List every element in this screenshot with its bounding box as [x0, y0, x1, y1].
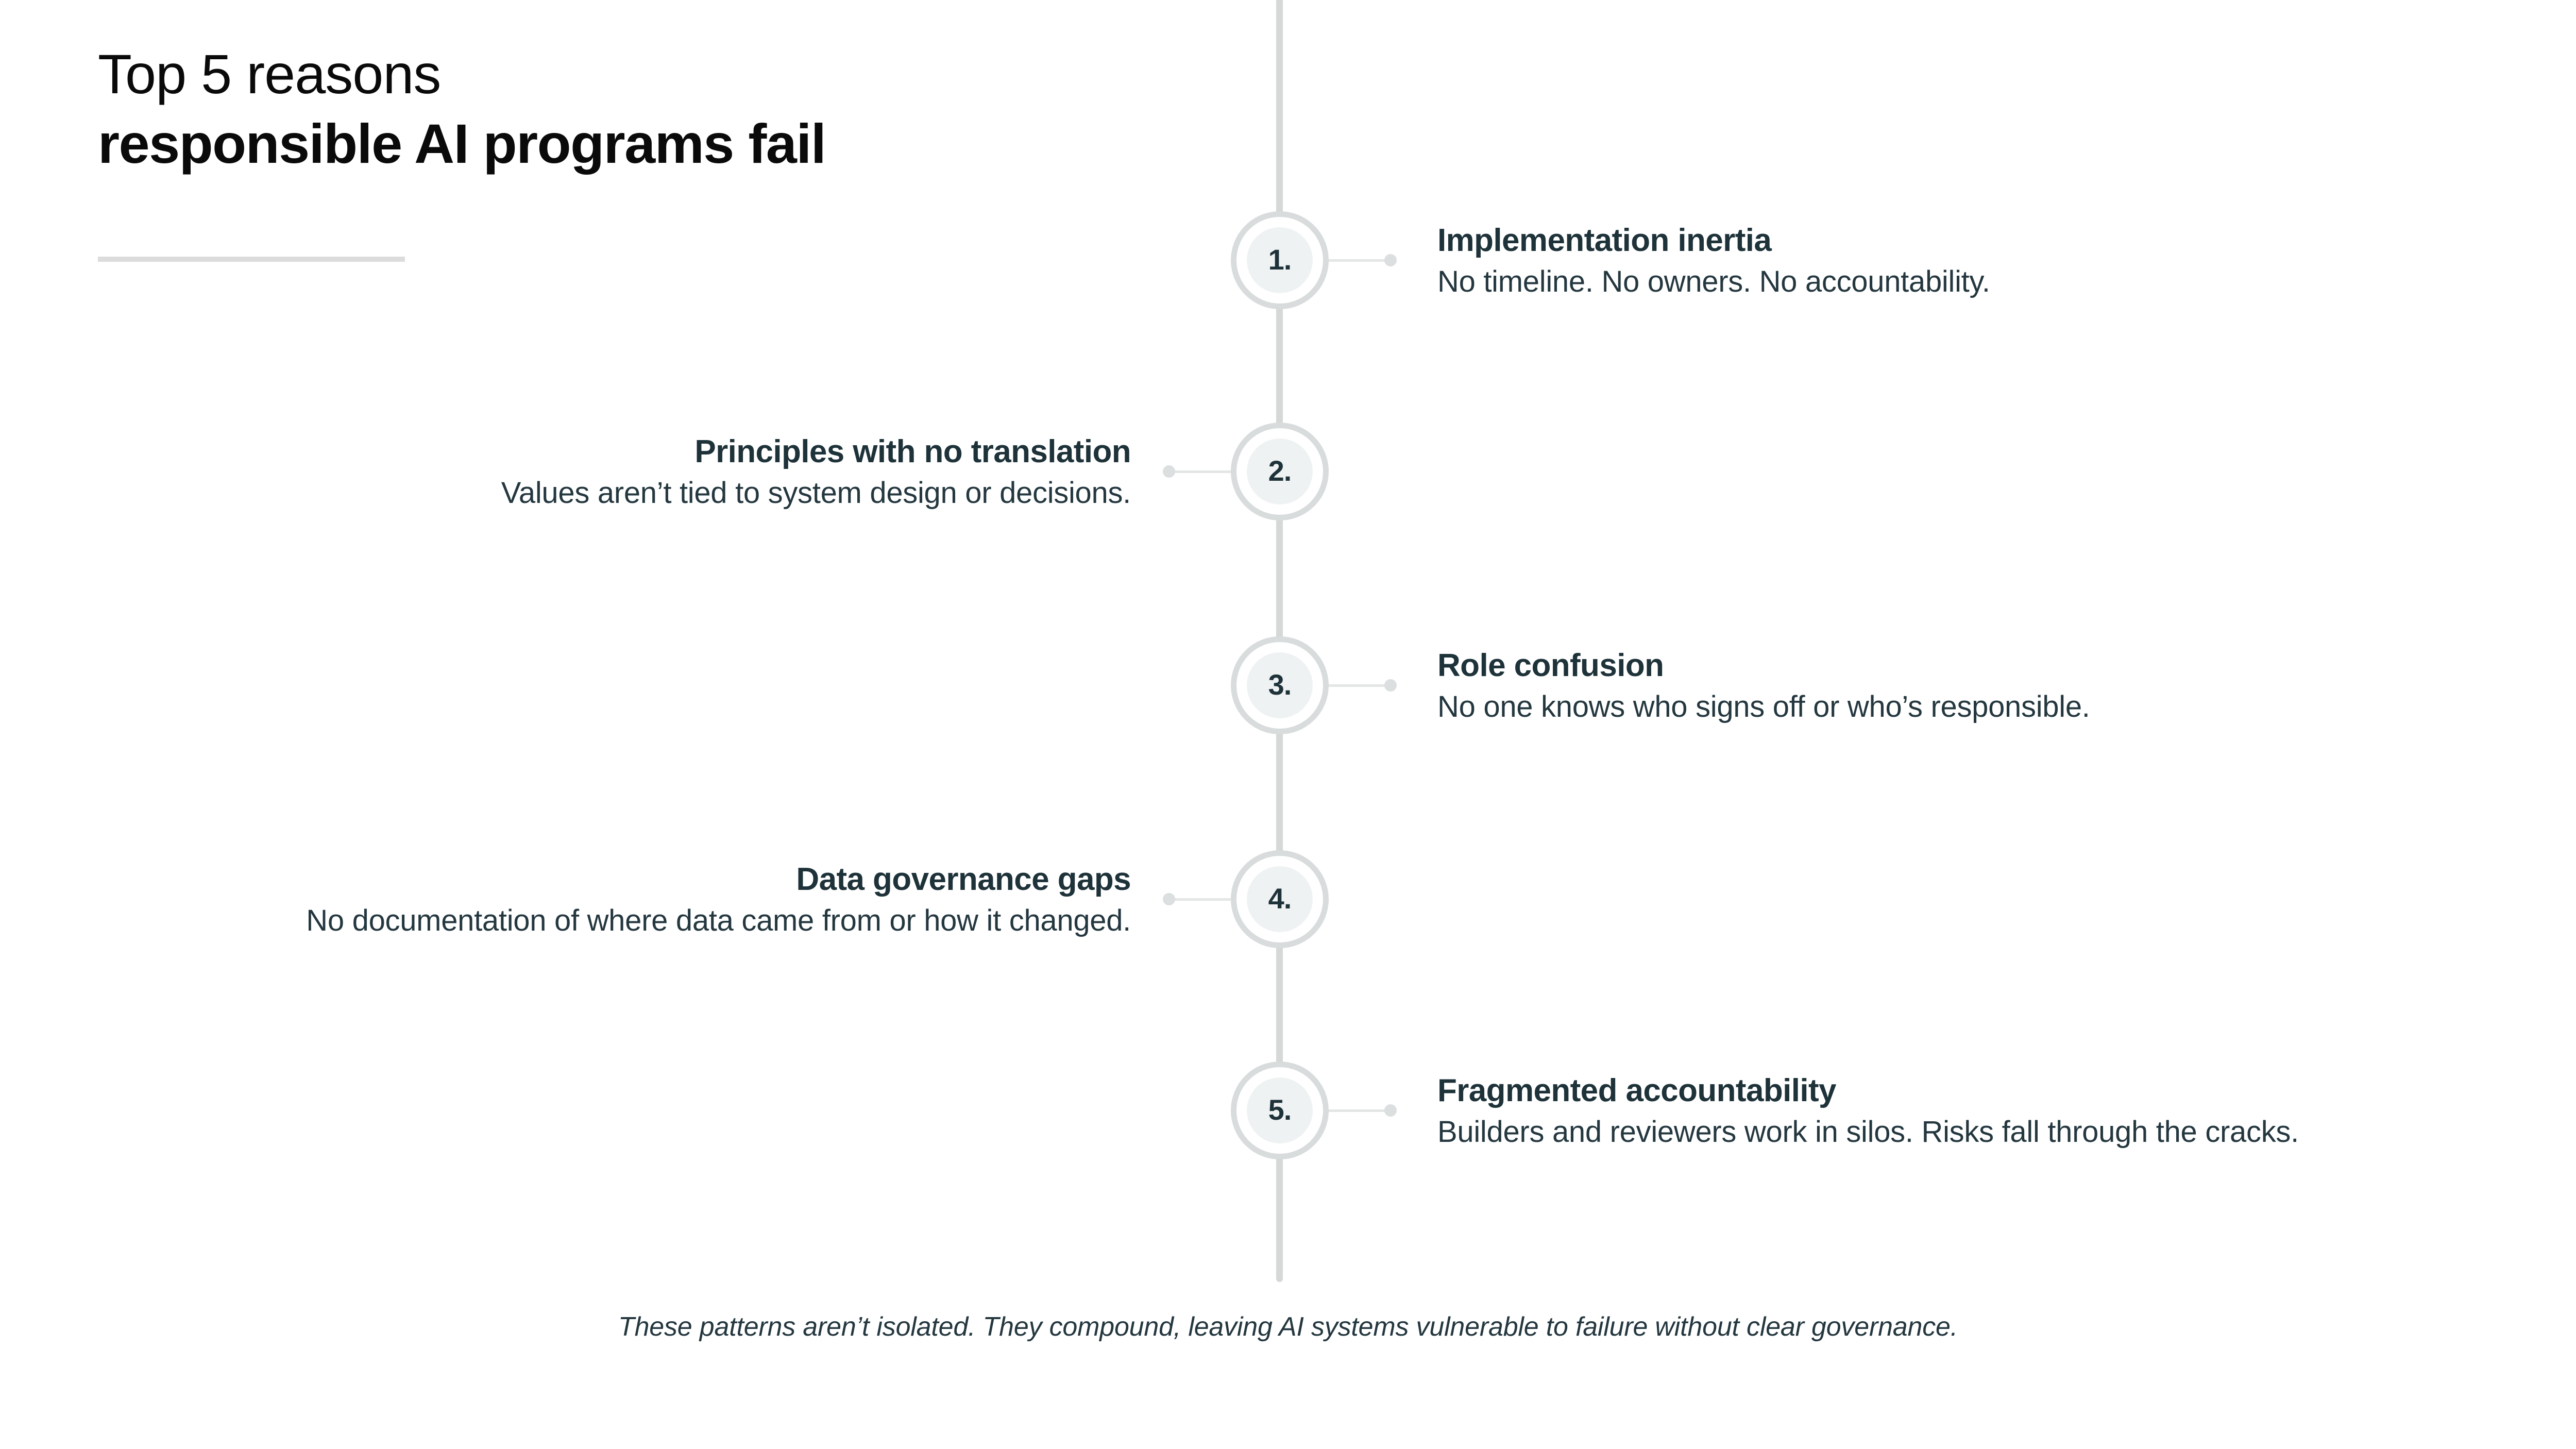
connector-dot — [1384, 679, 1397, 692]
timeline-item-1-text: Implementation inertiaNo timeline. No ow… — [1437, 222, 2416, 301]
title-line-primary: Top 5 reasons — [98, 41, 1128, 107]
timeline-item-2-text: Principles with no translationValues are… — [155, 433, 1131, 513]
timeline-node-5[interactable]: 5. — [1231, 1062, 1329, 1159]
timeline-item-description: Builders and reviewers work in silos. Ri… — [1437, 1113, 2416, 1151]
timeline-node-4[interactable]: 4. — [1231, 850, 1329, 948]
timeline-item-description: No timeline. No owners. No accountabilit… — [1437, 262, 2416, 301]
timeline-item-description: Values aren’t tied to system design or d… — [155, 474, 1131, 512]
footer-caption: These patterns aren’t isolated. They com… — [0, 1310, 2576, 1345]
connector-line — [1329, 259, 1391, 262]
connector-line — [1329, 1109, 1391, 1112]
timeline-item-heading: Implementation inertia — [1437, 222, 2416, 259]
timeline-node-2[interactable]: 2. — [1231, 423, 1329, 520]
timeline-node-inner: 2. — [1247, 439, 1313, 504]
timeline-item-4-text: Data governance gapsNo documentation of … — [155, 861, 1131, 940]
timeline-node-number: 1. — [1268, 245, 1292, 274]
timeline-node-inner: 3. — [1247, 652, 1313, 718]
connector-dot — [1163, 893, 1175, 905]
timeline-item-description: No documentation of where data came from… — [155, 901, 1131, 940]
title-line-secondary: responsible AI programs fail — [98, 111, 1128, 176]
timeline-item-5-text: Fragmented accountabilityBuilders and re… — [1437, 1072, 2416, 1152]
timeline-item-heading: Data governance gaps — [155, 861, 1131, 898]
connector-line — [1329, 684, 1391, 687]
timeline-node-number: 5. — [1268, 1096, 1292, 1124]
connector-line — [1169, 898, 1231, 901]
timeline-node-inner: 5. — [1247, 1077, 1313, 1143]
timeline-node-inner: 1. — [1247, 227, 1313, 293]
title-divider-rule — [98, 257, 405, 262]
timeline-item-3-text: Role confusionNo one knows who signs off… — [1437, 647, 2416, 727]
timeline-node-1[interactable]: 1. — [1231, 211, 1329, 309]
timeline-item-heading: Principles with no translation — [155, 433, 1131, 470]
page-title: Top 5 reasons responsible AI programs fa… — [98, 41, 1128, 177]
connector-line — [1169, 470, 1231, 473]
connector-dot — [1163, 465, 1175, 478]
timeline-node-number: 4. — [1268, 884, 1292, 913]
timeline-node-3[interactable]: 3. — [1231, 636, 1329, 734]
connector-dot — [1384, 254, 1397, 266]
connector-dot — [1384, 1104, 1397, 1117]
timeline-item-description: No one knows who signs off or who’s resp… — [1437, 687, 2416, 726]
timeline-node-number: 2. — [1268, 457, 1292, 485]
timeline-node-inner: 4. — [1247, 866, 1313, 932]
infographic-canvas: Top 5 reasons responsible AI programs fa… — [0, 0, 2576, 1449]
timeline-node-number: 3. — [1268, 670, 1292, 699]
timeline-item-heading: Fragmented accountability — [1437, 1072, 2416, 1109]
timeline-item-heading: Role confusion — [1437, 647, 2416, 684]
